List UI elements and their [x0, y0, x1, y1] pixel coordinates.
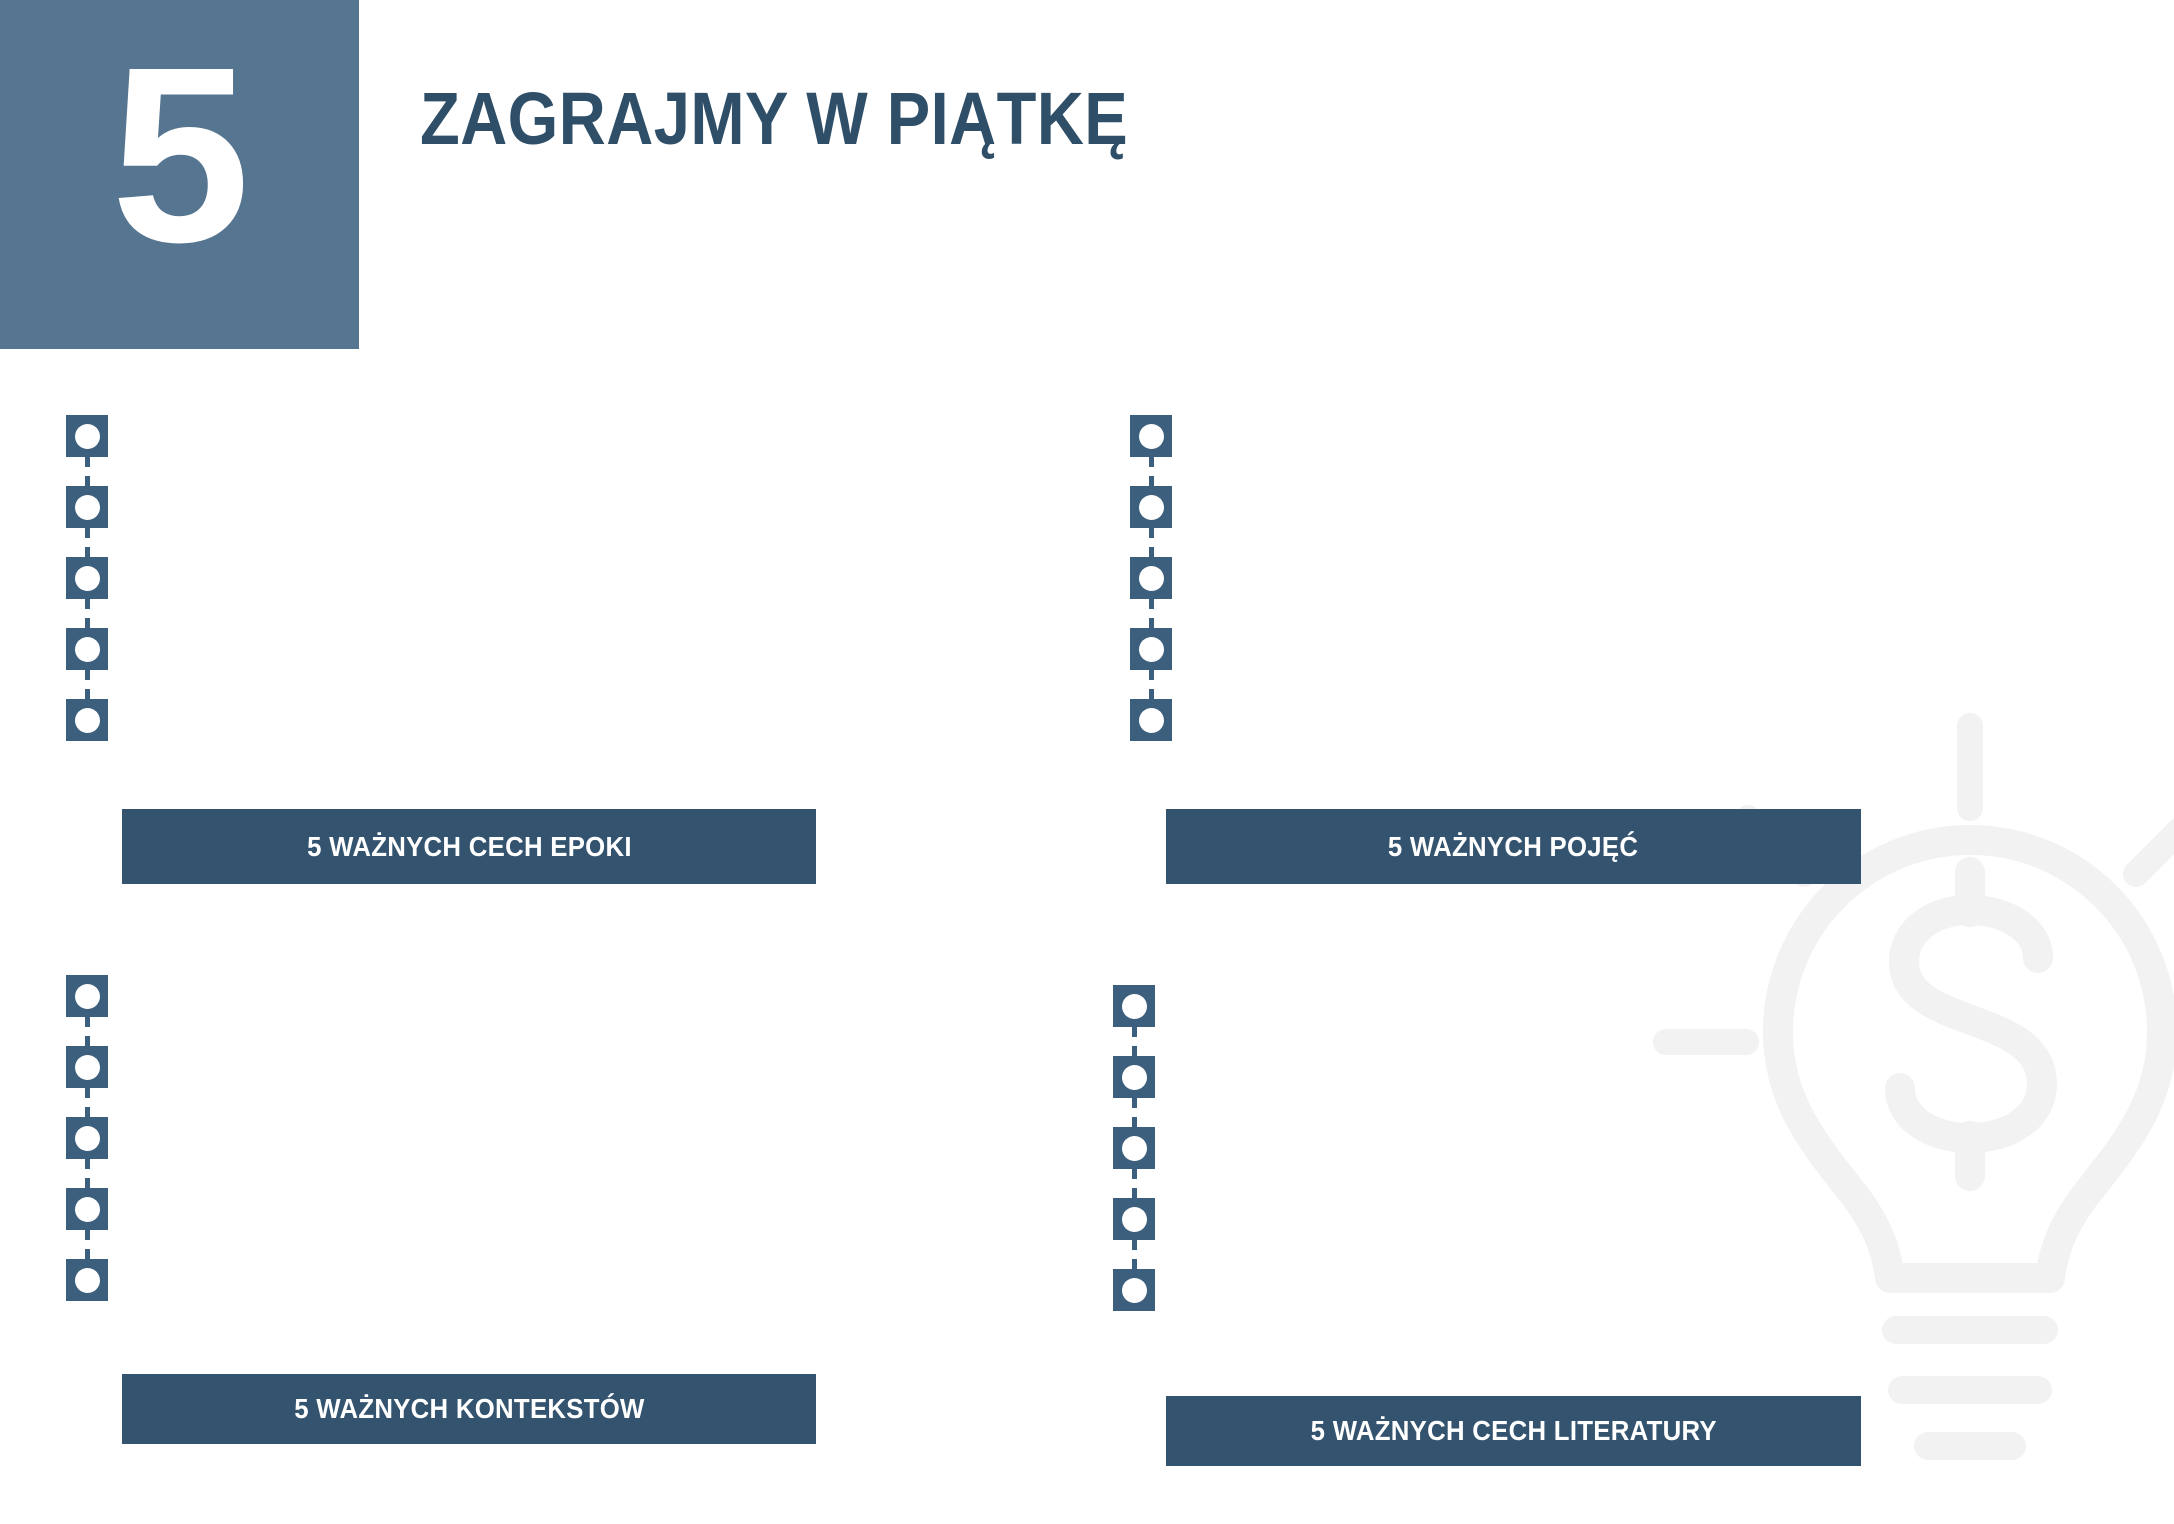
checklist-connector	[85, 1159, 90, 1188]
checklist-connector	[1132, 1240, 1137, 1269]
checkbox-circle-icon	[75, 1126, 100, 1151]
page-title: ZAGRAJMY W PIĄTKĘ	[420, 82, 1128, 156]
checklist-connector	[1149, 528, 1154, 557]
label-bar-konteksty[interactable]: 5 WAŻNYCH KONTEKSTÓW	[122, 1374, 816, 1444]
label-bar-literatura[interactable]: 5 WAŻNYCH CECH LITERATURY	[1166, 1396, 1861, 1466]
checklist-item-4[interactable]	[1113, 1198, 1155, 1240]
checklist-connector	[1149, 670, 1154, 699]
label-bar-konteksty-text: 5 WAŻNYCH KONTEKSTÓW	[294, 1393, 644, 1425]
checklist-item-1[interactable]	[66, 975, 108, 1017]
checklist-item-5[interactable]	[1113, 1269, 1155, 1311]
checklist-connector	[1149, 457, 1154, 486]
checklist-item-5[interactable]	[1130, 699, 1172, 741]
checklist-connector	[85, 528, 90, 557]
checklist-connector	[85, 1230, 90, 1259]
checkbox-circle-icon	[1122, 1065, 1147, 1090]
checklist-konteksty	[66, 975, 108, 1301]
checkbox-circle-icon	[75, 495, 100, 520]
checkbox-circle-icon	[75, 1055, 100, 1080]
checklist-item-3[interactable]	[66, 1117, 108, 1159]
checklist-item-3[interactable]	[1130, 557, 1172, 599]
checklist-item-2[interactable]	[66, 1046, 108, 1088]
checkbox-circle-icon	[75, 637, 100, 662]
checklist-connector	[1132, 1098, 1137, 1127]
checklist-connector	[1149, 599, 1154, 628]
checkbox-circle-icon	[1139, 637, 1164, 662]
checkbox-circle-icon	[75, 1197, 100, 1222]
checkbox-circle-icon	[1122, 994, 1147, 1019]
checklist-pojec	[1130, 415, 1172, 741]
checklist-item-2[interactable]	[1113, 1056, 1155, 1098]
slide-number-badge: 5	[0, 0, 359, 349]
checklist-item-1[interactable]	[1113, 985, 1155, 1027]
checkbox-circle-icon	[1139, 708, 1164, 733]
checklist-connector	[85, 1017, 90, 1046]
checklist-connector	[85, 457, 90, 486]
checkbox-circle-icon	[75, 984, 100, 1009]
checkbox-circle-icon	[1139, 424, 1164, 449]
checklist-item-1[interactable]	[1130, 415, 1172, 457]
checkbox-circle-icon	[1122, 1136, 1147, 1161]
checklist-connector	[85, 599, 90, 628]
checkbox-circle-icon	[75, 566, 100, 591]
checklist-item-2[interactable]	[1130, 486, 1172, 528]
checkbox-circle-icon	[75, 1268, 100, 1293]
checklist-item-5[interactable]	[66, 1259, 108, 1301]
checklist-item-4[interactable]	[1130, 628, 1172, 670]
label-bar-literatura-text: 5 WAŻNYCH CECH LITERATURY	[1310, 1415, 1716, 1447]
checkbox-circle-icon	[75, 424, 100, 449]
checklist-connector	[1132, 1169, 1137, 1198]
label-bar-epoki-text: 5 WAŻNYCH CECH EPOKI	[307, 831, 632, 863]
checkbox-circle-icon	[1139, 495, 1164, 520]
checklist-connector	[85, 1088, 90, 1117]
checklist-item-4[interactable]	[66, 1188, 108, 1230]
checklist-item-5[interactable]	[66, 699, 108, 741]
checklist-item-3[interactable]	[66, 557, 108, 599]
checklist-connector	[1132, 1027, 1137, 1056]
checkbox-circle-icon	[1122, 1278, 1147, 1303]
label-bar-pojec-text: 5 WAŻNYCH POJĘĆ	[1388, 831, 1638, 863]
checklist-literatura	[1113, 985, 1155, 1311]
checklist-item-3[interactable]	[1113, 1127, 1155, 1169]
label-bar-epoki[interactable]: 5 WAŻNYCH CECH EPOKI	[122, 809, 816, 884]
checklist-item-2[interactable]	[66, 486, 108, 528]
checklist-item-4[interactable]	[66, 628, 108, 670]
slide-canvas: 5 ZAGRAJMY W PIĄTKĘ	[0, 0, 2174, 1524]
label-bar-pojec[interactable]: 5 WAŻNYCH POJĘĆ	[1166, 809, 1861, 884]
checkbox-circle-icon	[1122, 1207, 1147, 1232]
checkbox-circle-icon	[1139, 566, 1164, 591]
checkbox-circle-icon	[75, 708, 100, 733]
checklist-epoki	[66, 415, 108, 741]
slide-number: 5	[0, 30, 359, 280]
checklist-item-1[interactable]	[66, 415, 108, 457]
checklist-connector	[85, 670, 90, 699]
